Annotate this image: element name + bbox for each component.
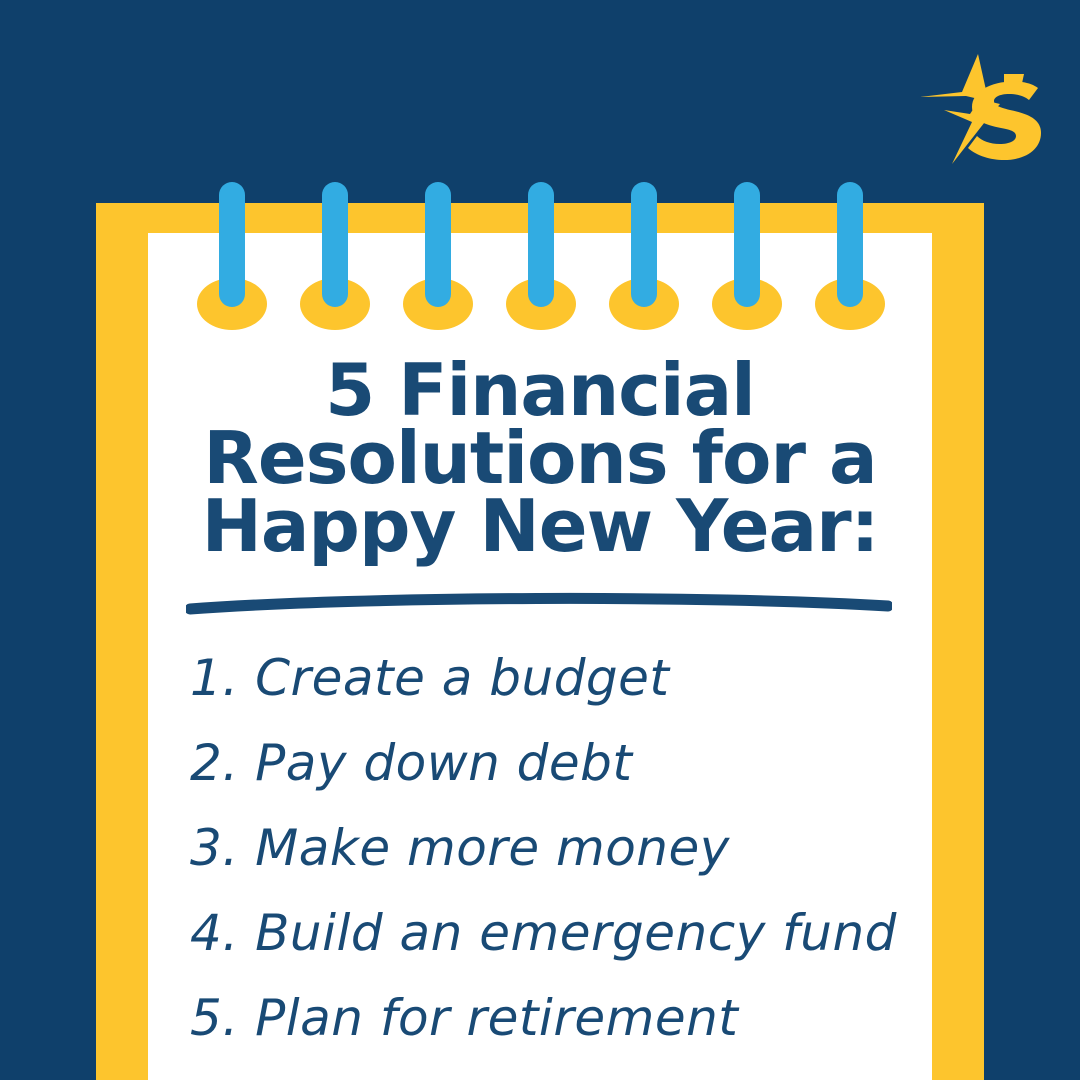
spiral-wire [837,182,863,307]
resolution-list: 1. Create a budget 2. Pay down debt 3. M… [190,636,920,1061]
spiral-wire [322,182,348,307]
spiral-wire [219,182,245,307]
spiral-wire [734,182,760,307]
poster-canvas: 5 Financial Resolutions for a Happy New … [0,0,1080,1080]
spiral-wire [528,182,554,307]
list-item: 1. Create a budget [190,636,920,721]
spiral-wire [631,182,657,307]
title-line-1: 5 Financial [148,356,932,424]
star-dollar-logo [900,52,1050,172]
list-item: 4. Build an emergency fund [190,891,920,976]
title-line-2: Resolutions for a [148,424,932,492]
spiral-wire [425,182,451,307]
list-item: 5. Plan for retirement [190,976,920,1061]
list-item: 2. Pay down debt [190,721,920,806]
title-divider [186,592,892,618]
title-line-3: Happy New Year: [148,492,932,560]
page-title: 5 Financial Resolutions for a Happy New … [148,356,932,560]
list-item: 3. Make more money [190,806,920,891]
